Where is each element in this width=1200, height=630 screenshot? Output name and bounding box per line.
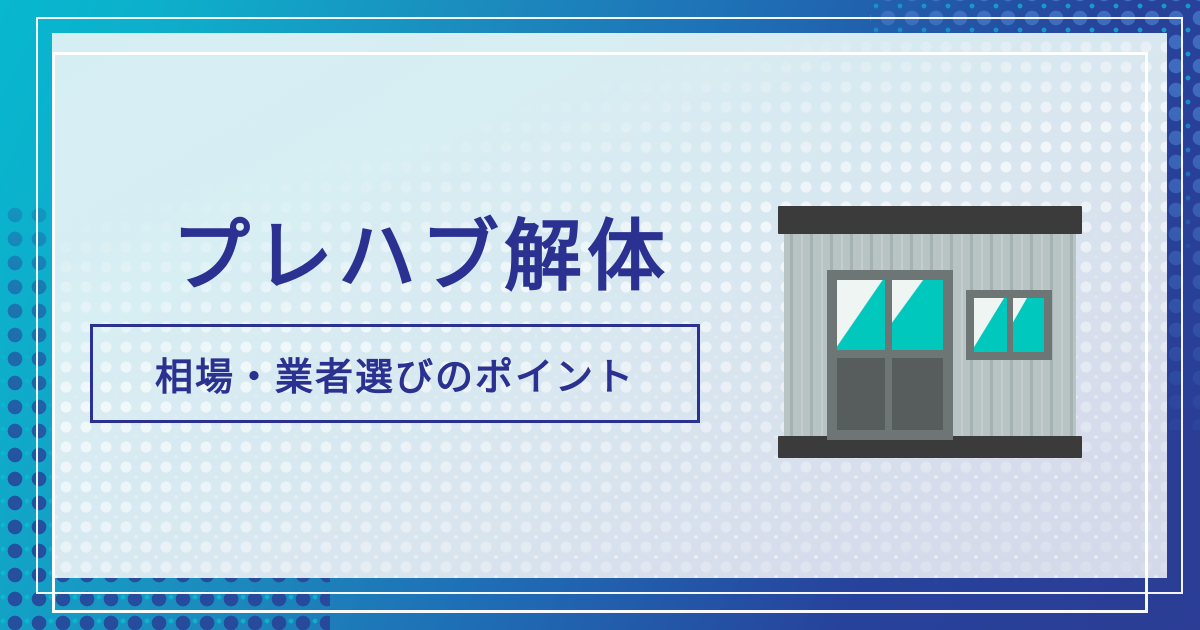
prefab-building-illustration — [770, 198, 1090, 466]
subtitle-text: 相場・業者選びのポイント — [155, 346, 635, 401]
subtitle-box: 相場・業者選びのポイント — [90, 324, 700, 423]
page-title: プレハブ解体 — [90, 218, 710, 296]
door-panel-lower-right — [892, 358, 943, 430]
window-glass-left — [974, 298, 1007, 352]
door-glass-upper-right — [892, 280, 943, 350]
banner-canvas: プレハブ解体 相場・業者選びのポイント — [0, 0, 1200, 630]
door-glass-upper-left — [837, 280, 885, 350]
window-glass-right — [1013, 298, 1044, 352]
roof-bar — [778, 206, 1082, 234]
text-block: プレハブ解体 相場・業者選びのポイント — [90, 218, 710, 423]
door-panel-lower-left — [837, 358, 885, 430]
